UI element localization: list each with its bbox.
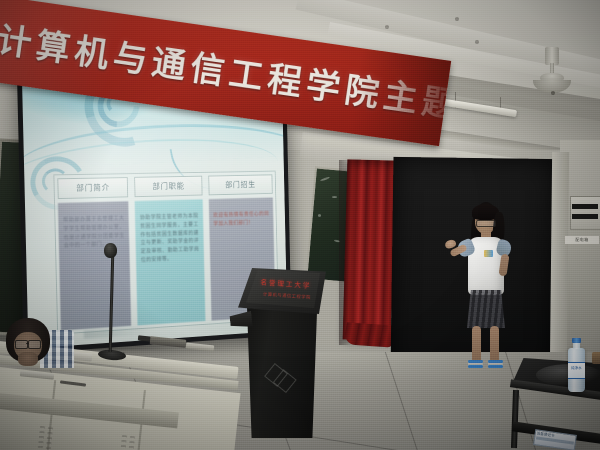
ceiling-hook-icon <box>475 40 479 44</box>
door-jamb <box>550 152 569 374</box>
slide-column-3-header: 部门招生 <box>208 174 273 195</box>
slide-column-1-text: 帮助部办属于名誉理工大学学生帮助管理办公室，也是计通学院分团委学生会中的一个部门… <box>63 216 125 250</box>
presenter-glasses-icon <box>476 220 496 227</box>
slide-column-2: 部门职能 协助学院主管老师为本院贫困生同学服务，主要工作包括贫困生数据库的建立与… <box>134 176 205 326</box>
audience-glasses-lens-icon <box>15 340 28 349</box>
ceiling-hook-icon <box>385 25 389 29</box>
av-equipment-cart: 设备登记卡 <box>512 358 600 450</box>
electrical-control-panel[interactable] <box>570 196 600 230</box>
curtain-hem <box>343 322 397 347</box>
sandal-strap <box>468 365 483 368</box>
presenter-arm-right <box>499 254 510 277</box>
presenter-leg <box>472 326 481 364</box>
podium-diamond-logo-icon <box>265 363 298 396</box>
slide-column-1-body: 帮助部办属于名誉理工大学学生帮助管理办公室，也是计通学院分团委学生会中的一个部门… <box>58 201 132 330</box>
audience-member-hand <box>18 352 38 366</box>
bottle-neck <box>573 343 580 349</box>
sandal-strap <box>488 365 503 368</box>
microphone-head-icon <box>104 243 117 258</box>
audience-glasses-lens-icon <box>28 340 41 349</box>
sandal-strap <box>488 360 503 363</box>
banner-fade <box>350 48 451 146</box>
red-curtain <box>343 159 396 340</box>
bottle-cap <box>572 338 581 343</box>
lectern-podium[interactable]: 名誉理工大学 计算机与通信工程学院 <box>232 268 328 450</box>
cart-post <box>511 390 519 448</box>
audience-glasses-bridge <box>26 343 29 344</box>
presenter <box>450 202 520 378</box>
presenter-leg <box>490 326 499 364</box>
ceiling-fan-cap <box>551 91 555 95</box>
panel-slot <box>572 214 598 219</box>
bottle-label-text: 纯净水 <box>569 365 584 370</box>
slide-column-2-header: 部门职能 <box>134 176 202 197</box>
slide-column-1: 部门简介 帮助部办属于名誉理工大学学生帮助管理办公室，也是计通学院分团委学生会中… <box>57 177 131 330</box>
panel-label: 配电箱 <box>565 236 599 244</box>
floor-side-object <box>592 352 600 364</box>
presenter-shirt-badge <box>484 250 493 257</box>
panel-slot <box>572 204 598 209</box>
slide-column-1-header: 部门简介 <box>57 177 128 199</box>
sandal-strap <box>468 360 483 363</box>
presenter-skirt <box>467 290 505 328</box>
ceiling-hook-icon <box>455 17 459 21</box>
slide-column-2-text: 协助学院主管老师为本院贫困生同学服务，主要工作包括贫困生数据库的建立与更新、奖助… <box>140 214 199 264</box>
slide-column-3-text: 欢迎有热情有责任心的同学加入我们部门！ <box>213 211 269 227</box>
podium-side-wing <box>229 311 253 329</box>
chalk-mark <box>332 196 337 198</box>
photo-scene: 配电箱 部门简介 帮助部办属于名誉 <box>0 0 600 450</box>
slide-column-2-body: 协助学院主管老师为本院贫困生同学服务，主要工作包括贫困生数据库的建立与更新、奖助… <box>135 199 205 325</box>
chalk-mark <box>318 214 321 217</box>
